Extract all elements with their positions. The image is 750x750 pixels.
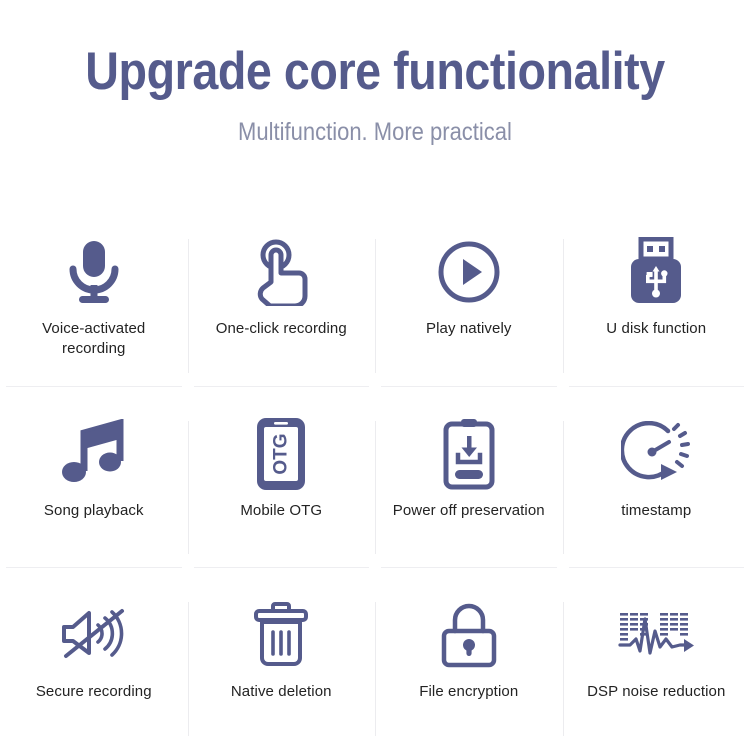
feature-label: One-click recording [216, 319, 347, 339]
feature-cell-file-encryption[interactable]: File encryption [375, 568, 563, 750]
page-subtitle: Multifunction. More practical [45, 118, 705, 147]
feature-cell-secure-recording[interactable]: Secure recording [0, 568, 188, 750]
usb-drive-icon [628, 231, 684, 313]
feature-label: Power off preservation [393, 501, 545, 521]
otg-icon-text: OTG [271, 433, 292, 474]
feature-grid: Voice-activated recording One-click reco… [0, 205, 750, 750]
feature-label: Mobile OTG [240, 501, 322, 521]
dsp-waveform-icon [618, 594, 694, 676]
feature-label: Voice-activated recording [14, 319, 174, 360]
feature-label: U disk function [606, 319, 706, 339]
feature-label: Song playback [44, 501, 144, 521]
feature-cell-one-click-recording[interactable]: One-click recording [188, 205, 376, 387]
feature-cell-timestamp[interactable]: timestamp [563, 387, 750, 569]
phone-otg-icon: OTG [255, 413, 307, 495]
feature-label: Native deletion [231, 682, 332, 702]
feature-cell-dsp-noise-reduction[interactable]: DSP noise reduction [563, 568, 750, 750]
speedometer-icon [621, 413, 691, 495]
padlock-icon [440, 594, 498, 676]
play-circle-icon [436, 231, 502, 313]
feature-cell-play-natively[interactable]: Play natively [375, 205, 563, 387]
feature-label: File encryption [419, 682, 518, 702]
feature-cell-u-disk-function[interactable]: U disk function [563, 205, 750, 387]
feature-label: timestamp [621, 501, 691, 521]
page-header: Upgrade core functionality Multifunction… [0, 0, 750, 147]
page-title: Upgrade core functionality [45, 44, 705, 100]
speaker-mute-icon [58, 594, 130, 676]
trash-can-icon [253, 594, 309, 676]
feature-cell-native-deletion[interactable]: Native deletion [188, 568, 376, 750]
feature-cell-mobile-otg[interactable]: OTG Mobile OTG [188, 387, 376, 569]
microphone-icon [63, 231, 125, 313]
tap-gesture-icon [248, 231, 314, 313]
feature-label: Play natively [426, 319, 512, 339]
feature-cell-voice-activated-recording[interactable]: Voice-activated recording [0, 205, 188, 387]
feature-label: DSP noise reduction [587, 682, 725, 702]
music-note-icon [60, 413, 128, 495]
battery-save-icon [442, 413, 496, 495]
feature-cell-power-off-preservation[interactable]: Power off preservation [375, 387, 563, 569]
feature-label: Secure recording [36, 682, 152, 702]
feature-overview-page: Upgrade core functionality Multifunction… [0, 0, 750, 750]
feature-cell-song-playback[interactable]: Song playback [0, 387, 188, 569]
